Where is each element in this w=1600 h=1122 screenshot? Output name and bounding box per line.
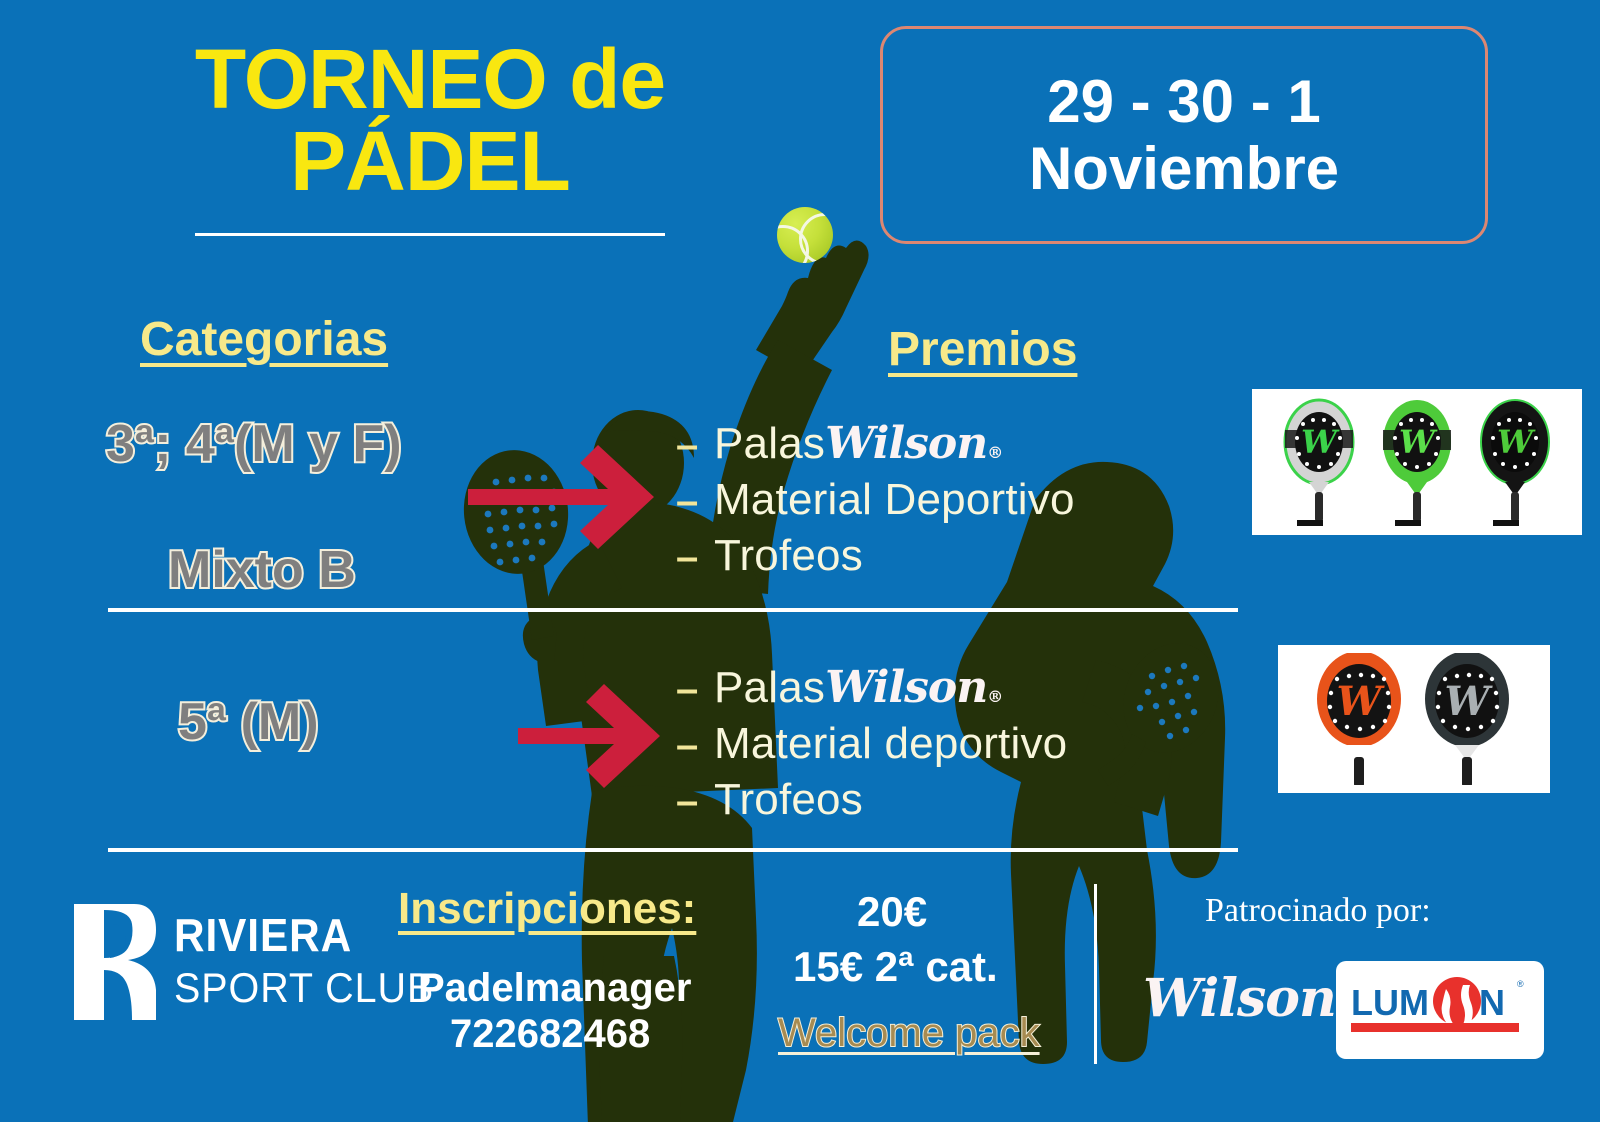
prize-row: – Trofeos: [676, 531, 1075, 581]
lumon-sponsor-logo: LUM N ®: [1336, 961, 1544, 1059]
title-divider: [195, 233, 665, 236]
prize-dash: –: [676, 723, 714, 768]
rackets-image-top: W W: [1252, 389, 1582, 535]
svg-text:W: W: [1497, 423, 1536, 461]
category-item-3: 5ª (M): [178, 692, 319, 752]
registration-phone[interactable]: 722682468: [450, 1012, 650, 1057]
riviera-sport-club-logo: RIVIERA SPORT CLUB: [70, 900, 451, 1024]
prize-label: Palas: [714, 663, 825, 713]
wilson-wordmark: Wilson: [1143, 968, 1336, 1029]
prize-dash: –: [676, 667, 714, 712]
prize-row: – Palas Wilson ®: [676, 418, 1075, 469]
date-days: 29 - 30 - 1: [1047, 68, 1321, 135]
prizes-group-primary: – Palas Wilson ® – Material Deportivo – …: [676, 418, 1075, 587]
price-second-category: 15€ 2ª cat.: [793, 943, 998, 991]
club-name: RIVIERA: [174, 912, 429, 958]
sponsor-divider: [1094, 884, 1097, 1064]
section-divider-middle: [108, 608, 1238, 612]
categories-heading: Categorias: [140, 312, 388, 367]
title-line-2: PÁDEL: [120, 120, 740, 202]
category-item-1: 3ª; 4ª(M y F): [106, 414, 402, 474]
prize-dash: –: [676, 779, 714, 824]
date-badge: 29 - 30 - 1 Noviembre: [880, 26, 1488, 244]
svg-text:W: W: [1445, 678, 1494, 725]
svg-text:N: N: [1479, 982, 1505, 1023]
svg-text:W: W: [1399, 423, 1438, 461]
club-subtitle: SPORT CLUB: [174, 964, 434, 1012]
prize-dash: –: [676, 423, 714, 468]
section-divider-lower: [108, 848, 1238, 852]
price-main: 20€: [857, 888, 927, 936]
poster-canvas: TORNEO de PÁDEL 29 - 30 - 1 Noviembre Ca…: [0, 0, 1600, 1122]
prize-label: Material deportivo: [714, 719, 1067, 769]
svg-text:LUM: LUM: [1351, 982, 1429, 1023]
svg-text:®: ®: [1517, 979, 1524, 989]
rackets-image-bottom: W W: [1278, 645, 1550, 793]
prize-label: Material Deportivo: [714, 475, 1075, 525]
prize-dash: –: [676, 479, 714, 524]
registration-heading: Inscripciones:: [398, 884, 696, 934]
prize-row: – Palas Wilson ®: [676, 662, 1067, 713]
wilson-wordmark: Wilson: [825, 662, 987, 713]
sponsor-label: Patrocinado por:: [1205, 892, 1431, 930]
registration-platform[interactable]: Padelmanager: [418, 966, 691, 1011]
tennis-ball-icon: [777, 207, 833, 263]
page-title: TORNEO de PÁDEL: [120, 38, 740, 236]
prize-label: Trofeos: [714, 531, 863, 581]
category-item-2: Mixto B: [168, 540, 356, 600]
wilson-wordmark: Wilson: [825, 418, 987, 469]
prizes-heading: Premios: [888, 322, 1077, 377]
date-month: Noviembre: [1029, 135, 1339, 202]
registered-mark: ®: [987, 443, 1002, 462]
prize-row: – Material Deportivo: [676, 475, 1075, 525]
lumon-globe-icon: [1433, 977, 1481, 1025]
prize-label: Palas: [714, 419, 825, 469]
svg-text:W: W: [1337, 678, 1386, 725]
wilson-sponsor-logo: Wilson®: [1143, 968, 1352, 1029]
title-line-1: TORNEO de: [120, 38, 740, 120]
riviera-r-mark-icon: [70, 900, 156, 1024]
prize-row: – Material deportivo: [676, 719, 1067, 769]
svg-text:W: W: [1301, 423, 1340, 461]
prize-label: Trofeos: [714, 775, 863, 825]
registered-mark: ®: [987, 687, 1002, 706]
welcome-pack-label: Welcome pack: [778, 1011, 1040, 1056]
prize-dash: –: [676, 535, 714, 580]
prize-row: – Trofeos: [676, 775, 1067, 825]
prizes-group-secondary: – Palas Wilson ® – Material deportivo – …: [676, 662, 1067, 831]
